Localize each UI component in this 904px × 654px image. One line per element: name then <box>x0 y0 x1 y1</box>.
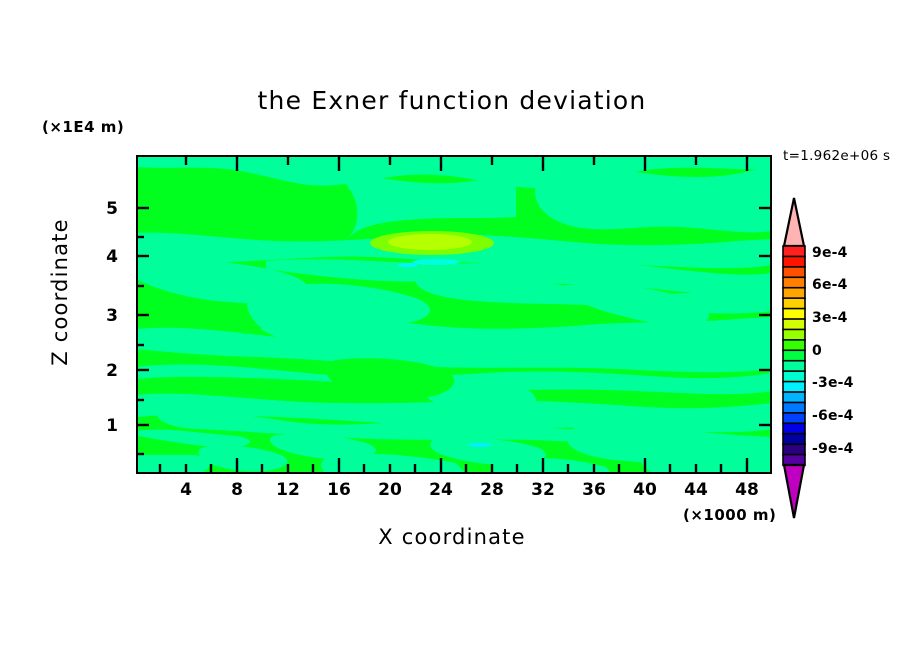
colorbar-tick-label: 6e-4 <box>812 277 848 293</box>
contour-field-svg <box>136 155 772 474</box>
x-tick-label: 4 <box>166 480 206 500</box>
colorbar-tick-label: 3e-4 <box>812 310 848 326</box>
colorbar-band <box>783 288 805 299</box>
colorbar <box>778 196 810 520</box>
contour-streak-cyan-3 <box>468 443 492 447</box>
colorbar-under-arrow <box>784 465 804 518</box>
colorbar-band <box>783 413 805 424</box>
colorbar-band <box>783 361 805 372</box>
colorbar-band <box>783 256 805 267</box>
x-tick-label: 12 <box>268 480 308 500</box>
timestamp-label: t=1.962e+06 s <box>783 148 890 164</box>
colorbar-band <box>783 402 805 413</box>
colorbar-band <box>783 319 805 330</box>
contour-streak-cyan-2 <box>398 263 418 267</box>
colorbar-band <box>783 392 805 403</box>
y-tick-label: 2 <box>90 361 118 381</box>
colorbar-svg <box>778 196 810 520</box>
contour-plot-area <box>136 155 772 474</box>
page-title: the Exner function deviation <box>0 86 904 115</box>
colorbar-tick-label: 9e-4 <box>812 245 848 261</box>
colorbar-band <box>783 444 805 455</box>
y-tick-label: 3 <box>90 306 118 326</box>
colorbar-band <box>783 309 805 320</box>
colorbar-band <box>783 340 805 351</box>
x-tick-label: 24 <box>421 480 461 500</box>
x-axis-title: X coordinate <box>0 525 904 549</box>
colorbar-band <box>783 350 805 361</box>
colorbar-band <box>783 434 805 445</box>
contour-hotspot-core <box>388 234 472 250</box>
x-tick-label: 48 <box>727 480 767 500</box>
x-tick-label: 28 <box>472 480 512 500</box>
y-tick-label: 4 <box>90 247 118 267</box>
x-tick-label: 16 <box>319 480 359 500</box>
x-tick-label: 32 <box>523 480 563 500</box>
y-tick-label: 1 <box>90 416 118 436</box>
colorbar-tick-label: -3e-4 <box>812 375 854 391</box>
colorbar-band <box>783 455 805 466</box>
colorbar-band <box>783 423 805 434</box>
colorbar-tick-label: 0 <box>812 343 822 359</box>
colorbar-band <box>783 371 805 382</box>
contour-bands-group <box>136 155 772 474</box>
colorbar-band <box>783 329 805 340</box>
x-tick-label: 36 <box>574 480 614 500</box>
x-tick-label: 44 <box>676 480 716 500</box>
colorbar-band <box>783 277 805 288</box>
colorbar-band <box>783 298 805 309</box>
x-tick-label: 20 <box>370 480 410 500</box>
colorbar-tick-label: -6e-4 <box>812 408 854 424</box>
colorbar-tick-label: -9e-4 <box>812 441 854 457</box>
colorbar-band <box>783 382 805 393</box>
colorbar-over-arrow <box>784 198 804 246</box>
x-tick-label: 8 <box>217 480 257 500</box>
colorbar-bands <box>783 246 805 465</box>
contour-streak-cyan-1 <box>412 259 460 265</box>
z-axis-unit-label: (×1E4 m) <box>42 118 124 136</box>
y-axis-title: Z coordinate <box>48 192 72 392</box>
colorbar-band <box>783 246 805 257</box>
y-tick-label: 5 <box>90 199 118 219</box>
x-axis-unit-label: (×1000 m) <box>683 506 776 524</box>
x-tick-label: 40 <box>625 480 665 500</box>
colorbar-band <box>783 267 805 278</box>
